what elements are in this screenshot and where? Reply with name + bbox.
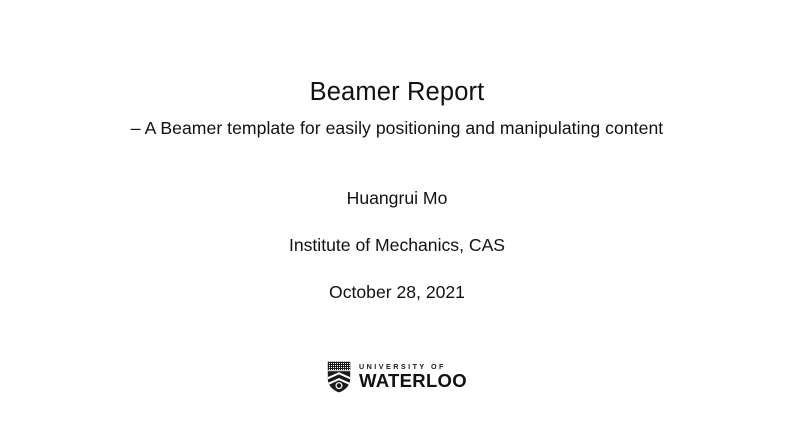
logo-university-of-text: UNIVERSITY OF [359, 363, 467, 370]
title-slide: Beamer Report – A Beamer template for ea… [0, 0, 794, 447]
logo-wordmark: UNIVERSITY OF WATERLOO [359, 363, 467, 391]
page-subtitle: – A Beamer template for easily positioni… [0, 118, 794, 139]
waterloo-shield-icon [327, 361, 351, 393]
title-block: Beamer Report – A Beamer template for ea… [0, 78, 794, 139]
page-title: Beamer Report [0, 78, 794, 107]
presentation-date: October 28, 2021 [0, 282, 794, 304]
author-meta-block: Huangrui Mo Institute of Mechanics, CAS … [0, 188, 794, 304]
author-name: Huangrui Mo [0, 188, 794, 210]
logo-waterloo-text: WATERLOO [359, 372, 467, 391]
author-institute: Institute of Mechanics, CAS [0, 235, 794, 257]
university-logo: UNIVERSITY OF WATERLOO [0, 361, 794, 393]
